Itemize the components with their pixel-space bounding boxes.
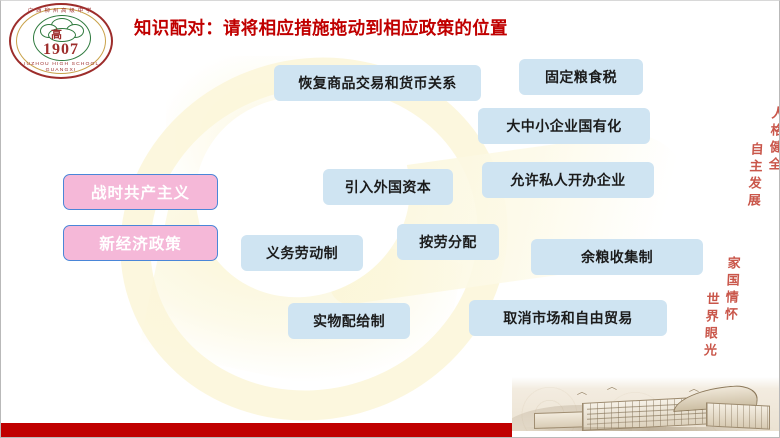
policy-target-2[interactable]: 新经济政策 (63, 225, 218, 261)
measure-card-3[interactable]: 大中小企业国有化 (478, 108, 650, 144)
school-building-sketch: ︿ ︿ ︿ (512, 377, 780, 431)
motto-column-2: 自主发展 (733, 142, 766, 406)
sketch-wing-building (706, 402, 770, 429)
policy-target-1[interactable]: 战时共产主义 (63, 174, 218, 210)
footer-red-bar (1, 423, 512, 438)
logo-english-text: LIUZHOU HIGH SCHOOL, GUANGXI (9, 61, 113, 72)
school-motto: 人格健全 自主发展 家国情怀 世界眼光 (723, 106, 779, 406)
sketch-ground-line (522, 427, 774, 431)
measure-card-6[interactable]: 按劳分配 (397, 224, 499, 260)
watermark-band (328, 125, 694, 308)
logo-year: 1907 (9, 41, 113, 59)
bird-icon: ︿ (607, 383, 617, 391)
bird-icon: ︿ (689, 385, 699, 393)
measure-card-10[interactable]: 取消市场和自由贸易 (469, 300, 667, 336)
school-logo: 广西柳州高级中学 高 1907 LIUZHOU HIGH SCHOOL, GUA… (9, 3, 113, 79)
logo-center-glyph: 高 (51, 30, 62, 41)
page-title: 知识配对：请将相应措施拖动到相应政策的位置 (134, 15, 508, 40)
measure-card-7[interactable]: 义务劳动制 (241, 235, 363, 271)
measure-card-4[interactable]: 允许私人开办企业 (482, 162, 654, 198)
bird-icon: ︿ (577, 388, 587, 396)
measure-card-1[interactable]: 恢复商品交易和货币关系 (274, 65, 481, 101)
measure-card-9[interactable]: 实物配给制 (288, 303, 410, 339)
measure-card-8[interactable]: 余粮收集制 (531, 239, 703, 275)
slide-canvas: 广西柳州高级中学 高 1907 LIUZHOU HIGH SCHOOL, GUA… (0, 0, 780, 438)
motto-column-1: 人格健全 (752, 106, 780, 406)
logo-chinese-text: 广西柳州高级中学 (9, 6, 113, 13)
measure-card-2[interactable]: 固定粮食税 (519, 59, 643, 95)
measure-card-5[interactable]: 引入外国资本 (323, 169, 453, 205)
